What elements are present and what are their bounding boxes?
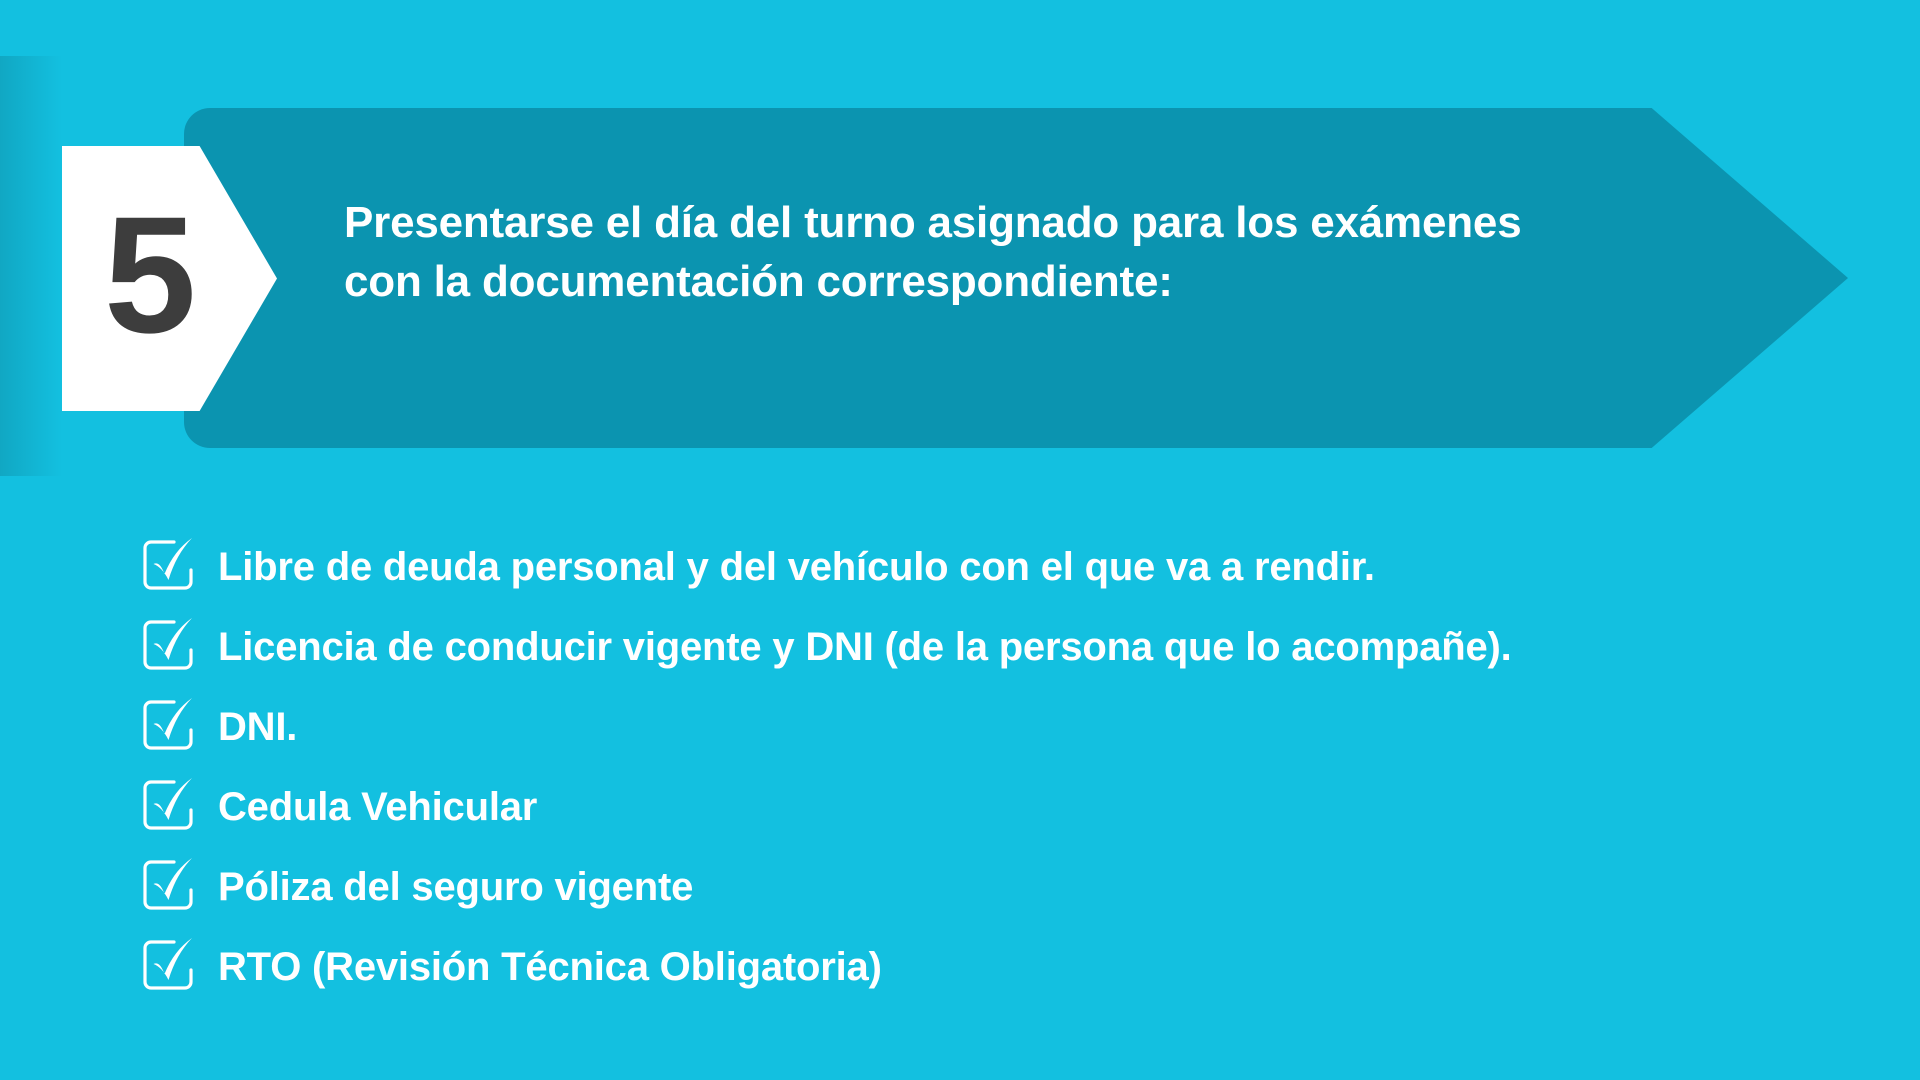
list-item-label: DNI. [218,707,297,747]
step-title-line-2: con la documentación correspondiente: [344,253,1764,312]
step-number: 5 [104,193,193,359]
checkbox-checked-icon [140,697,196,753]
left-edge-shadow [0,56,62,476]
list-item-label: Libre de deuda personal y del vehículo c… [218,547,1375,587]
checkbox-checked-icon [140,617,196,673]
list-item-label: Licencia de conducir vigente y DNI (de l… [218,627,1512,667]
checkbox-checked-icon [140,937,196,993]
list-item-label: Póliza del seguro vigente [218,867,693,907]
checkbox-checked-icon [140,777,196,833]
list-item: DNI. [140,687,1840,767]
list-item: Libre de deuda personal y del vehículo c… [140,527,1840,607]
list-item: RTO (Revisión Técnica Obligatoria) [140,927,1840,1007]
document-checklist: Libre de deuda personal y del vehículo c… [140,527,1840,1007]
list-item: Licencia de conducir vigente y DNI (de l… [140,607,1840,687]
list-item-label: Cedula Vehicular [218,787,537,827]
list-item: Cedula Vehicular [140,767,1840,847]
step-title: Presentarse el día del turno asignado pa… [344,194,1764,312]
step-banner: Presentarse el día del turno asignado pa… [184,108,1848,448]
step-title-line-1: Presentarse el día del turno asignado pa… [344,194,1764,253]
list-item-label: RTO (Revisión Técnica Obligatoria) [218,947,882,987]
list-item: Póliza del seguro vigente [140,847,1840,927]
checkbox-checked-icon [140,857,196,913]
checkbox-checked-icon [140,537,196,593]
